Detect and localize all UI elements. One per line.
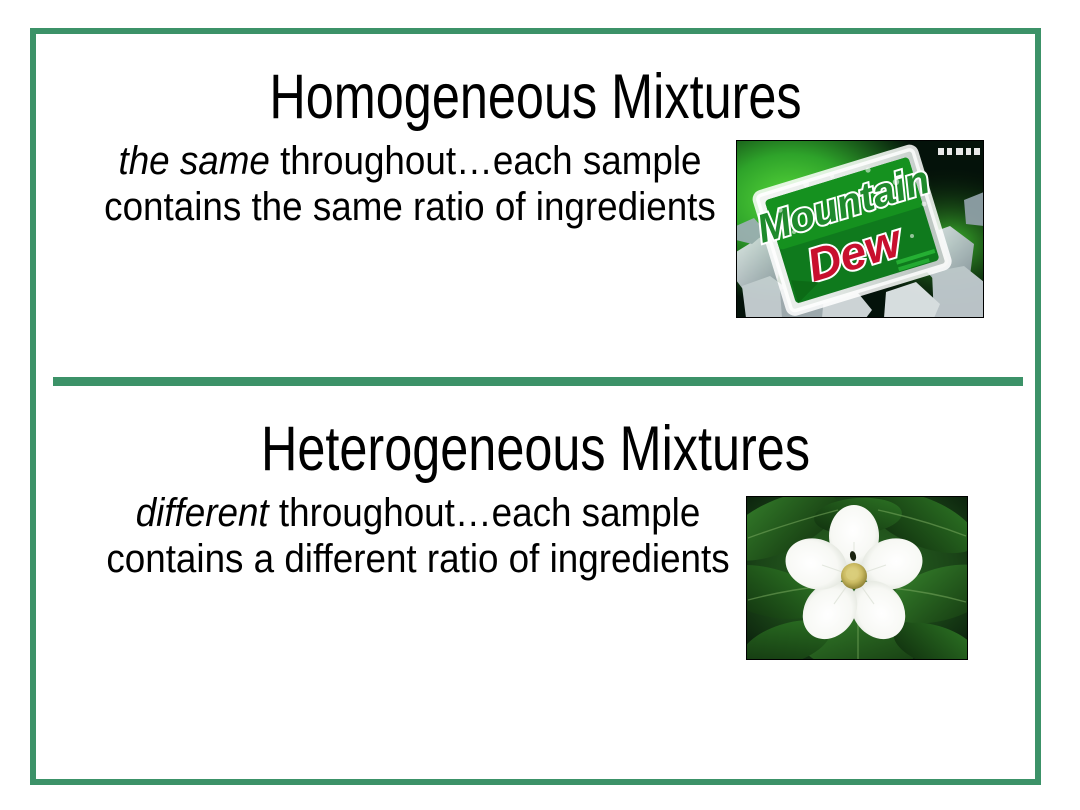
heterogeneous-description: different throughout…each sample contain…: [105, 490, 731, 582]
mountain-dew-photo: Mountain Dew: [736, 140, 984, 318]
section-divider: [53, 377, 1023, 386]
mountain-dew-illustration: Mountain Dew: [736, 140, 984, 318]
heterogeneous-emphasis: different: [136, 491, 269, 535]
homogeneous-emphasis: the same: [118, 139, 269, 183]
section-heterogeneous: Heterogeneous Mixtures different through…: [36, 390, 1035, 780]
homogeneous-description: the same throughout…each sample contains…: [97, 138, 723, 230]
white-flower-photo: [746, 496, 968, 660]
homogeneous-title: Homogeneous Mixtures: [136, 64, 935, 130]
heterogeneous-title: Heterogeneous Mixtures: [136, 416, 935, 482]
white-flower-illustration: [746, 496, 968, 660]
section-homogeneous: Homogeneous Mixtures the same throughout…: [36, 34, 1035, 374]
slide-canvas: Homogeneous Mixtures the same throughout…: [0, 0, 1080, 810]
